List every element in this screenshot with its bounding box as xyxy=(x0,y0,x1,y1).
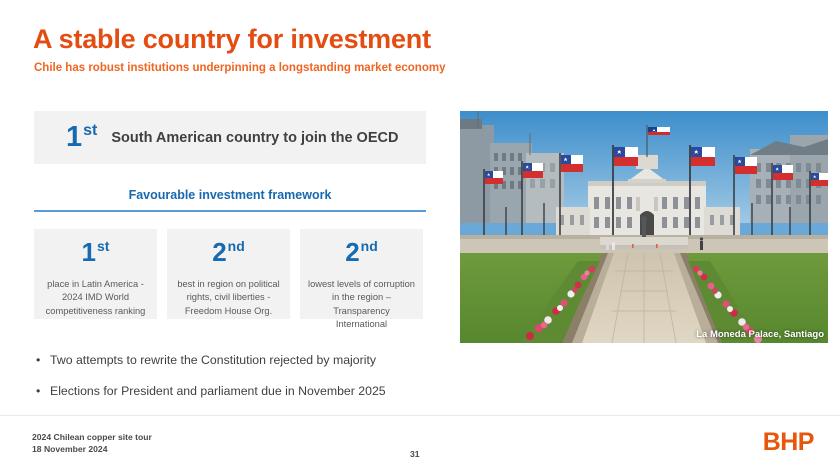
footer-line-2: 18 November 2024 xyxy=(32,443,152,455)
stat-rank-number: 2 xyxy=(212,239,226,265)
oecd-rank-suffix: st xyxy=(83,123,97,139)
bullet-list: • Two attempts to rewrite the Constituti… xyxy=(36,353,436,416)
bullet-text: Two attempts to rewrite the Constitution… xyxy=(50,353,376,368)
footer-divider xyxy=(0,415,840,416)
stat-description: place in Latin America - 2024 IMD World … xyxy=(41,278,150,318)
photo-illustration xyxy=(460,111,828,343)
footer-meta: 2024 Chilean copper site tour 18 Novembe… xyxy=(32,431,152,456)
stat-rank: 2nd xyxy=(212,239,245,265)
oecd-statement: South American country to join the OECD xyxy=(111,130,398,146)
stat-rank-number: 2 xyxy=(345,239,359,265)
framework-heading: Favourable investment framework xyxy=(34,188,426,210)
list-item: • Elections for President and parliament… xyxy=(36,384,436,399)
stat-box: 1st place in Latin America - 2024 IMD Wo… xyxy=(34,229,157,319)
bullet-marker-icon: • xyxy=(36,384,50,399)
stat-box: 2nd lowest levels of corruption in the r… xyxy=(300,229,423,319)
stat-rank-number: 1 xyxy=(82,239,96,265)
stat-description: best in region on political rights, civi… xyxy=(174,278,283,318)
stat-description: lowest levels of corruption in the regio… xyxy=(307,278,416,332)
page-subtitle: Chile has robust institutions underpinni… xyxy=(34,62,445,74)
list-item: • Two attempts to rewrite the Constituti… xyxy=(36,353,436,368)
slide-root: A stable country for investment Chile ha… xyxy=(0,0,840,473)
stat-rank-suffix: nd xyxy=(361,239,378,253)
stat-rank: 1st xyxy=(82,239,110,265)
bhp-logo: BHP xyxy=(763,428,814,457)
stat-box: 2nd best in region on political rights, … xyxy=(167,229,290,319)
photo-caption: La Moneda Palace, Santiago xyxy=(696,329,824,340)
stat-rank-suffix: st xyxy=(97,239,109,253)
bullet-marker-icon: • xyxy=(36,353,50,368)
stat-rank-suffix: nd xyxy=(228,239,245,253)
page-title: A stable country for investment xyxy=(33,25,431,55)
oecd-rank: 1st xyxy=(66,123,97,152)
left-content-column: 1st South American country to join the O… xyxy=(34,111,426,319)
stat-box-row: 1st place in Latin America - 2024 IMD Wo… xyxy=(34,229,426,319)
page-number: 31 xyxy=(410,449,420,459)
la-moneda-palace-photo: La Moneda Palace, Santiago xyxy=(460,111,828,343)
footer-line-1: 2024 Chilean copper site tour xyxy=(32,431,152,443)
bullet-text: Elections for President and parliament d… xyxy=(50,384,386,399)
oecd-rank-number: 1 xyxy=(66,123,82,152)
oecd-highlight-box: 1st South American country to join the O… xyxy=(34,111,426,164)
stat-rank: 2nd xyxy=(345,239,378,265)
framework-divider xyxy=(34,210,426,212)
